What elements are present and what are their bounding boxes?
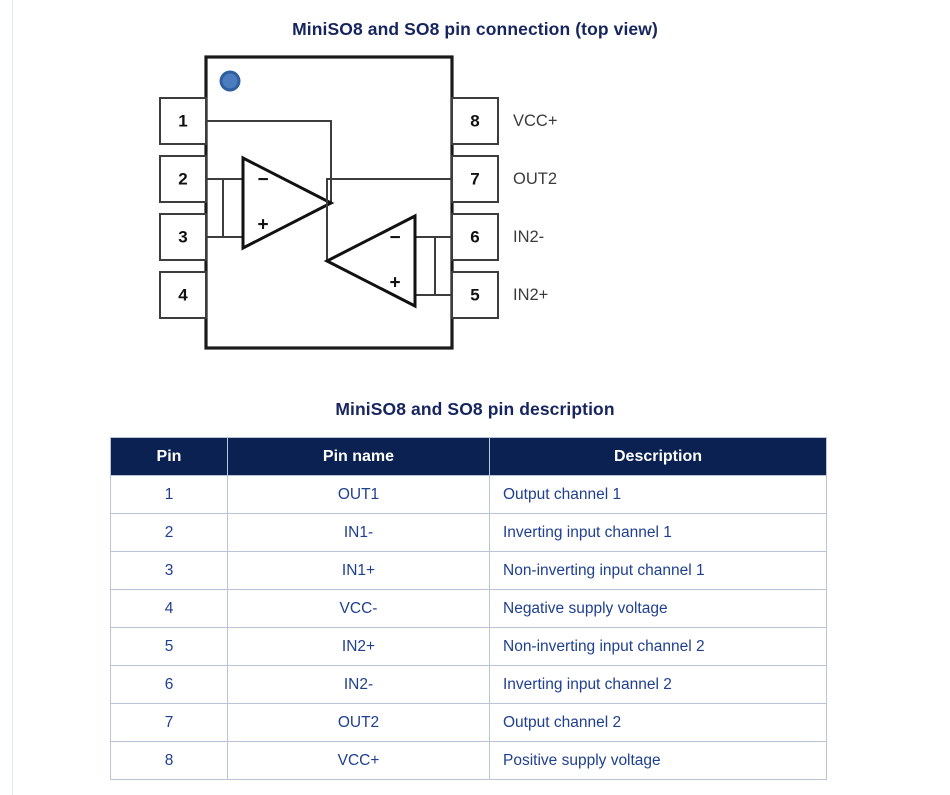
cell-pin-name: IN1- — [228, 514, 490, 552]
pin1-marker-icon — [223, 74, 238, 89]
pin-description-table: Pin Pin name Description 1OUT1Output cha… — [110, 437, 827, 780]
cell-pin-number: 2 — [111, 514, 228, 552]
opamp1-plus-sign: + — [257, 215, 268, 236]
opamp1-minus-sign: − — [257, 170, 268, 191]
cell-description: Non-inverting input channel 1 — [490, 552, 827, 590]
cell-pin-name: IN1+ — [228, 552, 490, 590]
cell-pin-name: OUT1 — [228, 476, 490, 514]
pin-number-1: 1 — [178, 112, 187, 131]
cell-pin-name: IN2- — [228, 666, 490, 704]
cell-description: Inverting input channel 1 — [490, 514, 827, 552]
pin-label-out2: OUT2 — [513, 170, 557, 188]
pin-label-vcc-plus: VCC+ — [513, 112, 557, 130]
package-diagram-svg: − + − + 1 2 3 4 8 7 6 5 OUT1 IN1- — [155, 48, 795, 368]
column-header-desc: Description — [490, 438, 827, 476]
cell-description: Output channel 2 — [490, 704, 827, 742]
pin-label-in2-plus: IN2+ — [513, 286, 548, 304]
pin-number-5: 5 — [470, 286, 479, 305]
cell-description: Non-inverting input channel 2 — [490, 628, 827, 666]
pin-number-4: 4 — [178, 286, 188, 305]
cell-pin-name: IN2+ — [228, 628, 490, 666]
opamp2-plus-sign: + — [389, 273, 400, 294]
cell-description: Negative supply voltage — [490, 590, 827, 628]
pin-number-2: 2 — [178, 170, 187, 189]
cell-pin-number: 8 — [111, 742, 228, 780]
table-row: 2IN1-Inverting input channel 1 — [111, 514, 827, 552]
cell-pin-number: 5 — [111, 628, 228, 666]
cell-pin-number: 7 — [111, 704, 228, 742]
pin-label-in2-minus: IN2- — [513, 228, 544, 246]
pin-number-7: 7 — [470, 170, 479, 189]
pin-connection-title: MiniSO8 and SO8 pin connection (top view… — [0, 19, 950, 40]
cell-pin-number: 1 — [111, 476, 228, 514]
table-row: 4VCC-Negative supply voltage — [111, 590, 827, 628]
cell-pin-name: VCC+ — [228, 742, 490, 780]
pin-number-8: 8 — [470, 112, 479, 131]
cell-description: Positive supply voltage — [490, 742, 827, 780]
cell-description: Output channel 1 — [490, 476, 827, 514]
table-row: 3IN1+Non-inverting input channel 1 — [111, 552, 827, 590]
table-header-row: Pin Pin name Description — [111, 438, 827, 476]
table-row: 6IN2-Inverting input channel 2 — [111, 666, 827, 704]
cell-pin-number: 4 — [111, 590, 228, 628]
cell-description: Inverting input channel 2 — [490, 666, 827, 704]
cell-pin-number: 3 — [111, 552, 228, 590]
cell-pin-number: 6 — [111, 666, 228, 704]
pin-description-title: MiniSO8 and SO8 pin description — [0, 399, 950, 420]
column-header-name: Pin name — [228, 438, 490, 476]
column-header-pin: Pin — [111, 438, 228, 476]
opamp2-minus-sign: − — [389, 228, 400, 249]
cell-pin-name: OUT2 — [228, 704, 490, 742]
table-row: 1OUT1Output channel 1 — [111, 476, 827, 514]
table-row: 7OUT2Output channel 2 — [111, 704, 827, 742]
table-row: 5IN2+Non-inverting input channel 2 — [111, 628, 827, 666]
pin-connection-diagram: − + − + 1 2 3 4 8 7 6 5 OUT1 IN1- — [0, 48, 950, 368]
table-row: 8VCC+Positive supply voltage — [111, 742, 827, 780]
cell-pin-name: VCC- — [228, 590, 490, 628]
pin-number-3: 3 — [178, 228, 187, 247]
pin-number-6: 6 — [470, 228, 479, 247]
